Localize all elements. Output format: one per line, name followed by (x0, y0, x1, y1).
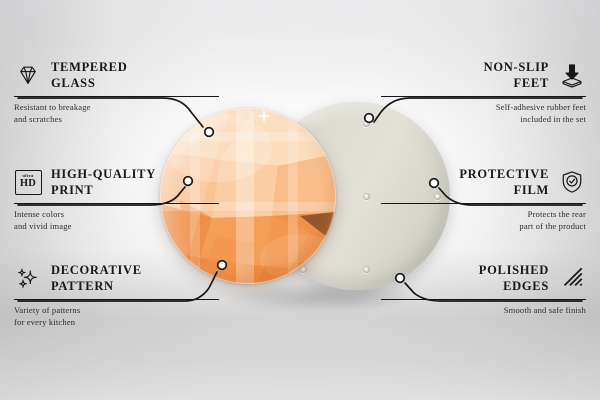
ultra-hd-badge-icon: ultra HD (14, 168, 42, 196)
feature-polished-edges[interactable]: POLISHEDEDGES Smooth and safe finish (381, 261, 586, 316)
feature-tempered-glass[interactable]: TEMPEREDGLASS Resistant to breakageand s… (14, 58, 219, 126)
feature-divider (14, 96, 219, 97)
feature-subtitle: Protects the rearpart of the product (381, 208, 586, 233)
leader-endpoint-tempered-glass (205, 128, 214, 137)
feature-subtitle: Smooth and safe finish (381, 304, 586, 316)
feature-subtitle: Resistant to breakageand scratches (14, 101, 219, 126)
feature-title: DECORATIVEPATTERN (51, 262, 142, 294)
leader-endpoint-non-slip-feet (365, 114, 374, 123)
feature-divider (381, 96, 586, 97)
feature-divider (14, 299, 219, 300)
feature-divider (381, 203, 586, 204)
feature-subtitle: Intense colorsand vivid image (14, 208, 219, 233)
diamond-icon (14, 61, 42, 89)
feature-title: PROTECTIVEFILM (459, 166, 549, 198)
sparkles-icon (14, 264, 42, 292)
feature-subtitle: Variety of patternsfor every kitchen (14, 304, 219, 329)
feature-subtitle: Self-adhesive rubber feetincluded in the… (381, 101, 586, 126)
feature-title: TEMPEREDGLASS (51, 59, 127, 91)
feature-title: POLISHEDEDGES (479, 262, 549, 294)
feature-decorative-pattern[interactable]: DECORATIVEPATTERN Variety of patternsfor… (14, 261, 219, 329)
hd-badge-large-label: HD (20, 179, 36, 190)
feature-non-slip-feet[interactable]: NON-SLIPFEET Self-adhesive rubber feetin… (381, 58, 586, 126)
diagonal-hatch-icon (558, 264, 586, 292)
feature-high-quality-print[interactable]: ultra HD HIGH-QUALITYPRINT Intense color… (14, 165, 219, 233)
shield-check-icon (558, 168, 586, 196)
feature-title: NON-SLIPFEET (484, 59, 549, 91)
arrow-down-pad-icon (558, 61, 586, 89)
feature-title: HIGH-QUALITYPRINT (51, 166, 156, 198)
feature-divider (14, 203, 219, 204)
feature-divider (381, 299, 586, 300)
feature-protective-film[interactable]: PROTECTIVEFILM Protects the rearpart of … (381, 165, 586, 233)
infographic-canvas: TEMPEREDGLASS Resistant to breakageand s… (0, 0, 600, 400)
